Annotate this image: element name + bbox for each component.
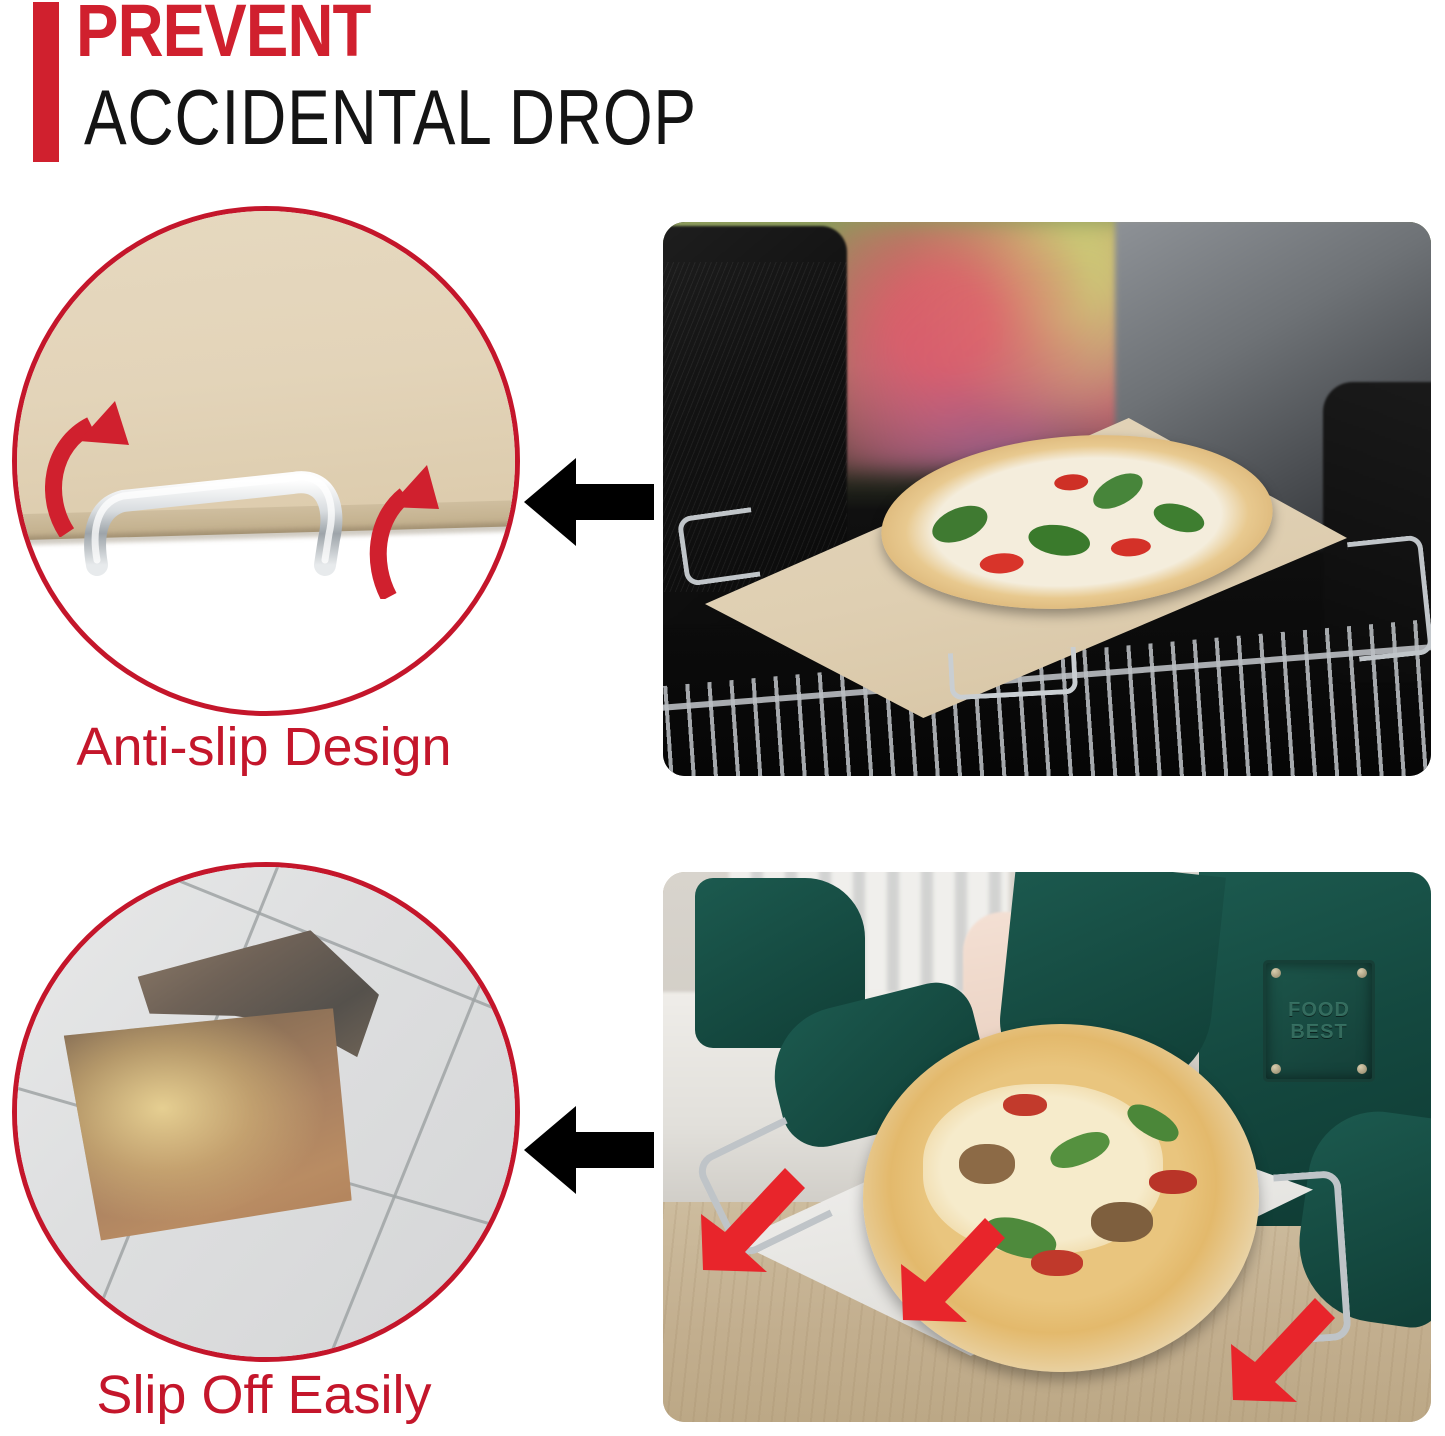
anti-slip-detail-circle [12,206,520,716]
page-title-primary: PREVENT [76,0,371,68]
basil-leaf [1088,466,1149,516]
curved-up-arrow-right-icon [365,459,445,599]
tomato-piece [979,552,1024,575]
curved-up-arrow-left-icon [45,397,137,537]
red-accent-bar [33,2,59,162]
stone-wire-rack-right [1347,534,1431,661]
stone-wire-rack-left [676,507,760,587]
slip-arrow-1-icon [693,1162,811,1280]
header-banner: PREVENT ACCIDENTAL DROP [0,0,1445,190]
photo-table-pizza-stone-slipping: FOOD BEST [663,872,1431,1422]
tomato-piece [1149,1170,1197,1194]
basil-leaf [927,498,993,549]
badge-text-line2: BEST [1290,1021,1347,1043]
basil-leaf [1150,498,1207,537]
basil-leaf [1026,521,1092,559]
page-title-secondary: ACCIDENTAL DROP [84,78,697,156]
tomato-piece [1031,1250,1083,1276]
stone-wire-rack-front [948,647,1078,701]
caption-slip-off: Slip Off Easily [10,1364,518,1426]
slip-off-failure-circle [12,862,520,1362]
black-pointer-arrow-icon [524,456,654,548]
tomato-piece [1110,537,1151,558]
mushroom-slice [959,1144,1015,1184]
caption-anti-slip: Anti-slip Design [10,716,518,778]
tomato-piece [1003,1094,1047,1116]
photo-grill-pizza-stone [663,222,1431,776]
slip-arrow-2-icon [893,1212,1011,1330]
badge-text-line1: FOOD [1288,999,1350,1021]
food-best-badge: FOOD BEST [1263,960,1375,1082]
slip-arrow-3-icon [1223,1292,1341,1410]
tomato-piece [1054,473,1089,491]
mushroom-slice [1091,1202,1153,1242]
black-pointer-arrow-icon [524,1104,654,1196]
